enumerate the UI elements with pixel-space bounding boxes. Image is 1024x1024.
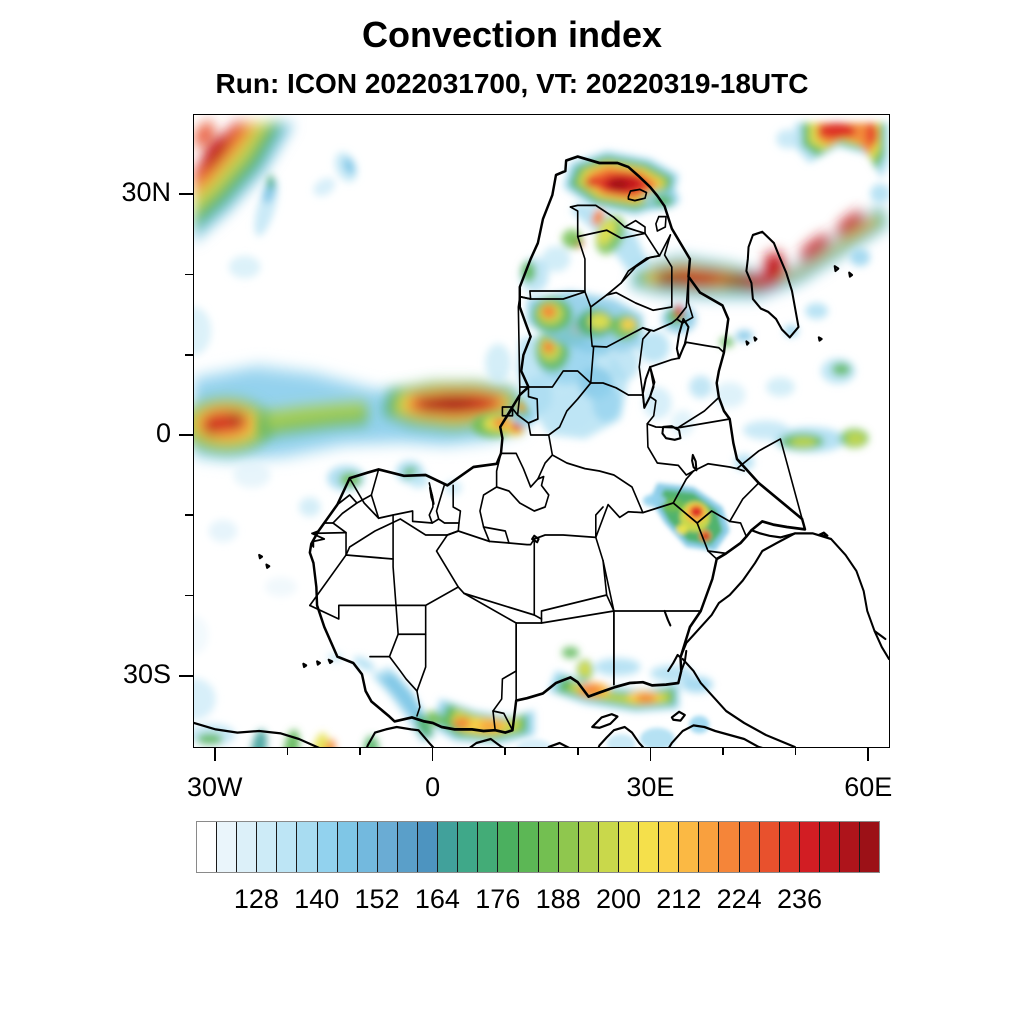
- colorbar-cell: [418, 822, 438, 872]
- colorbar-cell: [820, 822, 840, 872]
- x-axis-label: 30E: [590, 772, 710, 803]
- y-tick-mark: [185, 514, 193, 516]
- colorbar-cell: [719, 822, 739, 872]
- colorbar-tick-label: 236: [750, 884, 850, 915]
- colorbar-cell: [257, 822, 277, 872]
- x-tick-mark: [577, 748, 579, 755]
- colorbar-cell: [358, 822, 378, 872]
- colorbar-cell: [559, 822, 579, 872]
- x-tick-mark: [214, 748, 216, 761]
- north-atlantic-streaks: [194, 678, 379, 747]
- colorbar-cell: [840, 822, 860, 872]
- x-tick-mark: [287, 748, 289, 755]
- y-tick-mark: [179, 434, 193, 436]
- x-tick-mark: [722, 748, 724, 755]
- colorbar-cell: [197, 822, 217, 872]
- ethiopian-highlands-cells: [643, 483, 730, 551]
- colorbar-cell: [659, 822, 679, 872]
- colorbar-cell: [297, 822, 317, 872]
- x-tick-mark: [650, 748, 652, 761]
- colorbar-cell: [338, 822, 358, 872]
- y-tick-mark: [185, 354, 193, 356]
- colorbar-cell: [237, 822, 257, 872]
- colorbar-cell: [398, 822, 418, 872]
- y-axis-label: 0: [0, 418, 171, 449]
- map-plot-area: [193, 114, 890, 748]
- colorbar-cell: [318, 822, 338, 872]
- colorbar-cell: [740, 822, 760, 872]
- x-axis-label: 0: [373, 772, 493, 803]
- colorbar-cell: [458, 822, 478, 872]
- colorbar-cell: [780, 822, 800, 872]
- y-tick-mark: [179, 675, 193, 677]
- y-axis-label: 30N: [0, 177, 171, 208]
- y-tick-mark: [185, 595, 193, 597]
- colorbar-cell: [860, 822, 879, 872]
- colorbar-cell: [478, 822, 498, 872]
- convection-index-map: [194, 115, 889, 747]
- colorbar-cell: [378, 822, 398, 872]
- figure-root: Convection index Run: ICON 2022031700, V…: [0, 0, 1024, 1024]
- colorbar-cell: [800, 822, 820, 872]
- colorbar-cell: [639, 822, 659, 872]
- colorbar-cell: [438, 822, 458, 872]
- colorbar-cell: [679, 822, 699, 872]
- colorbar-cell: [699, 822, 719, 872]
- colorbar-cell: [579, 822, 599, 872]
- y-tick-mark: [179, 193, 193, 195]
- colorbar-cell: [217, 822, 237, 872]
- x-axis-label: 60E: [808, 772, 928, 803]
- x-tick-mark: [795, 748, 797, 755]
- colorbar-cell: [498, 822, 518, 872]
- y-tick-mark: [185, 274, 193, 276]
- colorbar-cell: [277, 822, 297, 872]
- y-axis-label: 30S: [0, 659, 171, 690]
- arabian-sea-band: [734, 421, 869, 471]
- maghreb-convection: [423, 699, 534, 744]
- run-info-subtitle: Run: ICON 2022031700, VT: 20220319-18UTC: [0, 68, 1024, 100]
- x-tick-mark: [867, 748, 869, 761]
- colorbar-cell: [619, 822, 639, 872]
- x-tick-mark: [359, 748, 361, 755]
- colorbar-cell: [760, 822, 780, 872]
- convection-field-layer: [194, 118, 889, 747]
- page-title: Convection index: [0, 14, 1024, 56]
- colorbar-cell: [599, 822, 619, 872]
- colorbar: [196, 821, 880, 873]
- colorbar-cell: [539, 822, 559, 872]
- x-axis-label: 30W: [155, 772, 275, 803]
- x-tick-mark: [504, 748, 506, 755]
- southeast-indian-vortex: [776, 123, 889, 179]
- southwest-atlantic-front: [194, 118, 295, 243]
- colorbar-cell: [519, 822, 539, 872]
- x-tick-mark: [432, 748, 434, 761]
